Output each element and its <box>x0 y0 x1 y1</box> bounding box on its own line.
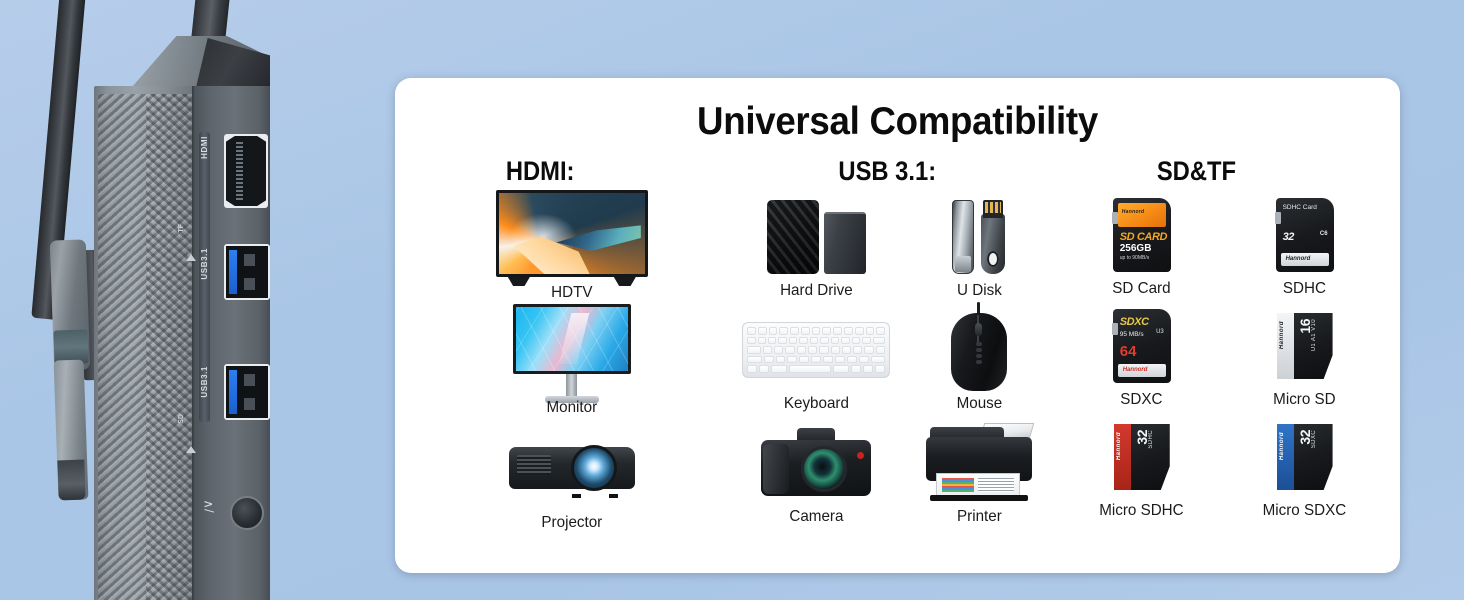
compatibility-columns: HDMI: HDTV <box>395 156 1400 532</box>
item-label-monitor: Monitor <box>417 399 726 417</box>
column-heading-hdmi: HDMI: <box>397 156 684 187</box>
usb31-port-bottom <box>224 364 270 420</box>
sdhc-card-icon: SDHC Card C6 32 Hannord <box>1276 198 1334 272</box>
item-label-printer: Printer <box>902 508 1057 526</box>
dock-vent-texture-right <box>146 94 192 600</box>
sd-type-text: SD CARD <box>1120 231 1167 243</box>
micro-sd-spec-text: U1 A1 V10 <box>1311 319 1317 351</box>
sdxc-class-mark: U3 <box>1156 329 1164 335</box>
column-sd-tf: SD&TF Hannord SD CARD 256GB up to 90MB/s <box>1060 156 1386 532</box>
item-monitor: Monitor <box>409 310 735 417</box>
sd-capacity-text: 256GB <box>1120 243 1152 254</box>
micro-sdhc-icon: Hannord 32 SDHC <box>1114 424 1170 490</box>
item-micro-sdhc: Hannord 32 SDHC Micro SDHC <box>1060 415 1223 520</box>
item-camera: Camera <box>735 421 898 526</box>
micro-sdhc-brand-text: Hannord <box>1116 432 1122 460</box>
product-photo: HDMI USB3.1 USB3.1 ∧/ TF SD <box>0 0 360 600</box>
sdxc-type-text: SDXC <box>1120 316 1149 328</box>
item-hdtv: HDTV <box>409 195 735 302</box>
item-label-micro-sdxc: Micro SDXC <box>1227 502 1382 520</box>
port-label-usb31-top: USB3.1 <box>200 248 209 280</box>
sdxc-capacity-text: 64 <box>1120 343 1137 360</box>
column-usb: USB 3.1: Hard Drive <box>735 156 1061 532</box>
card-slot-tag-sd: SD <box>178 414 185 424</box>
sd-card-icon: Hannord SD CARD 256GB up to 90MB/s <box>1113 198 1171 272</box>
micro-sdxc-icon: Hannord 32 SDXC <box>1277 424 1333 490</box>
column-heading-usb: USB 3.1: <box>744 156 1031 187</box>
printer-icon <box>926 423 1032 503</box>
sdhc-class-mark: C6 <box>1320 231 1328 237</box>
column-heading-sd-tf: SD&TF <box>1053 156 1340 187</box>
micro-sd-icon: Hannord 16 U1 A1 V10 <box>1277 313 1333 379</box>
item-label-projector: Projector <box>417 514 726 532</box>
monitor-icon <box>513 304 631 403</box>
item-label-keyboard: Keyboard <box>739 395 894 413</box>
item-mouse: Mouse <box>898 308 1061 413</box>
sd-brand-text: Hannord <box>1122 209 1145 215</box>
item-label-sd-card: SD Card <box>1064 280 1219 298</box>
sdxc-card-icon: SDXC 95 MB/s U3 64 Hannord <box>1113 309 1171 383</box>
keyboard-icon <box>742 322 890 378</box>
sdhc-header-text: SDHC Card <box>1283 204 1317 211</box>
item-label-hdtv: HDTV <box>417 284 726 302</box>
item-label-u-disk: U Disk <box>902 282 1057 300</box>
card-slot-tag-tf: TF <box>178 224 185 233</box>
mouse-icon <box>951 309 1007 391</box>
item-u-disk: U Disk <box>898 195 1061 300</box>
camera-icon <box>761 426 871 500</box>
sdhc-capacity-text: 32 <box>1283 231 1294 243</box>
item-sdhc: SDHC Card C6 32 Hannord SDHC <box>1223 193 1386 298</box>
headphone-icon: ∧/ <box>201 499 217 512</box>
audio-jack-port <box>230 496 264 530</box>
compatibility-panel: Universal Compatibility HDMI: HDTV <box>395 78 1400 573</box>
item-hard-drive: Hard Drive <box>735 195 898 300</box>
item-label-mouse: Mouse <box>902 395 1057 413</box>
micro-sd-brand-text: Hannord <box>1279 321 1285 349</box>
item-projector: Projector <box>409 425 735 532</box>
usb-c-connector-end <box>57 460 85 501</box>
item-label-micro-sd: Micro SD <box>1227 391 1382 409</box>
micro-sdxc-brand-text: Hannord <box>1279 432 1285 460</box>
triangle-marker-top <box>186 254 196 261</box>
item-label-sdxc: SDXC <box>1064 391 1219 409</box>
hard-drive-icon <box>767 200 866 274</box>
triangle-marker-bottom <box>186 446 196 453</box>
item-label-hard-drive: Hard Drive <box>739 282 894 300</box>
column-hdmi: HDMI: HDTV <box>409 156 735 532</box>
port-label-hdmi: HDMI <box>200 136 209 159</box>
item-micro-sd: Hannord 16 U1 A1 V10 Micro SD <box>1223 304 1386 409</box>
item-sd-card: Hannord SD CARD 256GB up to 90MB/s SD Ca… <box>1060 193 1223 298</box>
hdtv-icon <box>496 190 648 286</box>
page-title: Universal Compatibility <box>425 100 1370 144</box>
item-printer: Printer <box>898 421 1061 526</box>
item-label-sdhc: SDHC <box>1227 280 1382 298</box>
sdxc-brand-text: Hannord <box>1123 367 1148 373</box>
item-sdxc: SDXC 95 MB/s U3 64 Hannord SDXC <box>1060 304 1223 409</box>
micro-sdhc-type-text: SDHC <box>1148 430 1154 449</box>
item-label-camera: Camera <box>739 508 894 526</box>
item-micro-sdxc: Hannord 32 SDXC Micro SDXC <box>1223 415 1386 520</box>
sdhc-brand-text: Hannord <box>1286 256 1311 262</box>
hdmi-port <box>224 134 268 208</box>
sd-speed-text: up to 90MB/s <box>1120 255 1149 261</box>
sdxc-speed-text: 95 MB/s <box>1120 331 1144 338</box>
usb-flash-drive-icon <box>952 200 1005 274</box>
port-label-usb31-bottom: USB3.1 <box>200 366 209 398</box>
item-label-micro-sdhc: Micro SDHC <box>1064 502 1219 520</box>
docking-station-body: HDMI USB3.1 USB3.1 ∧/ TF SD <box>90 36 270 600</box>
usb31-port-top <box>224 244 270 300</box>
projector-icon <box>509 441 635 495</box>
item-keyboard: Keyboard <box>735 308 898 413</box>
micro-sdxc-type-text: SDXC <box>1311 430 1317 448</box>
